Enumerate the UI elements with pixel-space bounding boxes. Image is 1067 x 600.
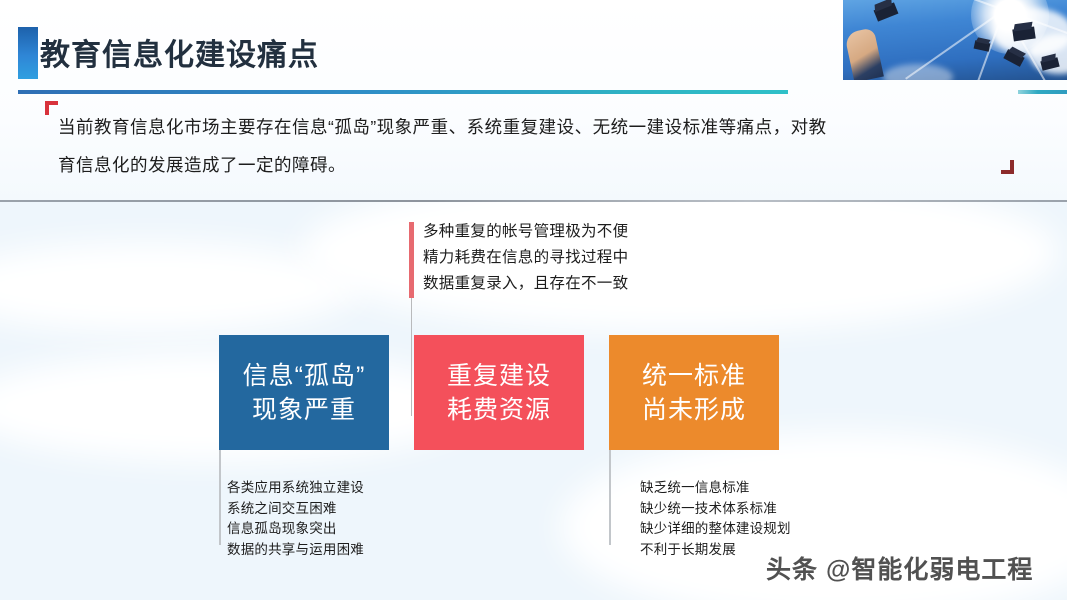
bullet-list-information-island: 各类应用系统独立建设 系统之间交互困难 信息孤岛现象突出 数据的共享与运用困难 (227, 478, 364, 560)
card-title-line: 信息“孤岛” (243, 359, 366, 393)
bullet-line: 缺乏统一信息标准 (640, 478, 791, 499)
callout-connector-line (411, 298, 413, 416)
card-title-line: 现象严重 (252, 393, 356, 427)
callout-line: 数据重复录入，且存在不一致 (423, 271, 628, 297)
quote-bracket-bottom-right-icon (1001, 160, 1014, 174)
background-cloud (300, 202, 1060, 332)
watermark: 头条 @智能化弱电工程 (766, 550, 1033, 586)
cloud-shape (883, 64, 953, 80)
graduation-cap-icon (874, 2, 899, 21)
callout-accent-bar (409, 222, 414, 298)
bullet-list-no-unified-standard: 缺乏统一信息标准 缺少统一技术体系标准 缺少详细的整体建设规划 不利于长期发展 (640, 478, 791, 560)
raised-hand (844, 27, 884, 80)
callout-text-block: 多种重复的帐号管理极为不便 精力耗费在信息的寻找过程中 数据重复录入，且存在不一… (423, 219, 628, 297)
summary-paragraph: 当前教育信息化市场主要存在信息“孤岛”现象严重、系统重复建设、无统一建设标准等痛… (58, 108, 988, 184)
card-title-line: 尚未形成 (642, 393, 746, 427)
summary-line: 当前教育信息化市场主要存在信息“孤岛”现象严重、系统重复建设、无统一建设标准等痛… (58, 108, 988, 146)
bullet-line: 信息孤岛现象突出 (227, 519, 364, 540)
page-title: 教育信息化建设痛点 (40, 30, 319, 74)
pain-point-card-information-island[interactable]: 信息“孤岛” 现象严重 (219, 335, 389, 450)
pain-point-card-duplicate-construction[interactable]: 重复建设 耗费资源 (414, 335, 584, 450)
card-title-line: 统一标准 (642, 359, 746, 393)
title-underline-right-segment (1018, 90, 1067, 94)
slide: 教育信息化建设痛点 当前教育信息化市场主要存在信息“孤岛”现象严重、系统重复建设… (0, 0, 1067, 600)
bullet-line: 各类应用系统独立建设 (227, 478, 364, 499)
slide-header: 教育信息化建设痛点 当前教育信息化市场主要存在信息“孤岛”现象严重、系统重复建设… (0, 0, 1067, 200)
bullet-line: 系统之间交互困难 (227, 499, 364, 520)
card-title-line: 耗费资源 (447, 393, 551, 427)
graduation-photo (843, 0, 1067, 80)
callout-line: 多种重复的帐号管理极为不便 (423, 219, 628, 245)
title-underline (18, 90, 788, 94)
callout-line: 精力耗费在信息的寻找过程中 (423, 245, 628, 271)
graduation-cap-icon (974, 40, 991, 51)
card-connector-line-orange (609, 450, 611, 545)
pain-point-card-no-unified-standard[interactable]: 统一标准 尚未形成 (609, 335, 779, 450)
card-title-line: 重复建设 (447, 359, 551, 393)
title-accent-bar (18, 27, 38, 79)
summary-line: 育信息化的发展造成了一定的障碍。 (58, 146, 988, 184)
graduation-cap-icon (1003, 49, 1024, 67)
bullet-line: 缺少统一技术体系标准 (640, 499, 791, 520)
card-connector-line-blue (219, 450, 221, 545)
bullet-line: 缺少详细的整体建设规划 (640, 519, 791, 540)
quote-bracket-top-left-icon (45, 101, 58, 115)
bullet-line: 数据的共享与运用困难 (227, 540, 364, 561)
